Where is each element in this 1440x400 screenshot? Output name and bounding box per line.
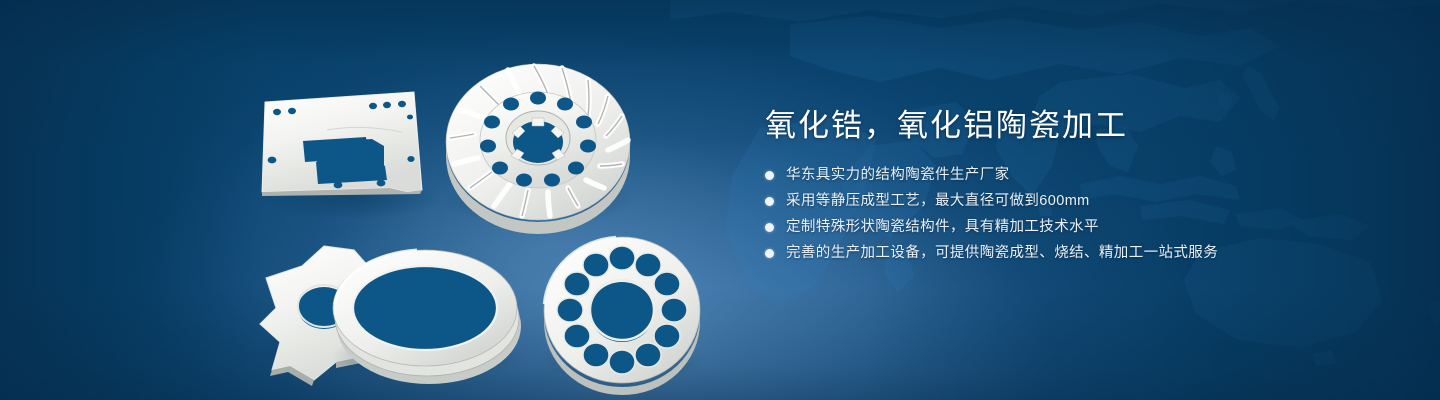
list-item-label: 定制特殊形状陶瓷结构件，具有精加工技术水平 [786,218,1099,237]
list-item-label: 华东具实力的结构陶瓷件生产厂家 [786,166,1010,185]
page-title: 氧化锆，氧化铝陶瓷加工 [765,104,1385,148]
banner-text-column: 氧化锆，氧化铝陶瓷加工 华东具实力的结构陶瓷件生产厂家 采用等静压成型工艺，最大… [765,104,1385,270]
ceramic-rings [331,250,523,384]
ceramic-plate [262,92,442,220]
list-item: 华东具实力的结构陶瓷件生产厂家 [765,166,1385,185]
product-image-group [232,40,714,390]
list-item: 采用等静压成型工艺，最大直径可做到600mm [765,192,1385,211]
hero-banner: 氧化锆，氧化铝陶瓷加工 华东具实力的结构陶瓷件生产厂家 采用等静压成型工艺，最大… [0,0,1440,400]
bullet-dot-icon [765,171,774,180]
feature-list: 华东具实力的结构陶瓷件生产厂家 采用等静压成型工艺，最大直径可做到600mm 定… [765,166,1385,263]
list-item-label: 完善的生产加工设备，可提供陶瓷成型、烧结、精加工一站式服务 [786,244,1218,263]
bullet-dot-icon [765,249,774,258]
bullet-dot-icon [765,197,774,206]
list-item: 定制特殊形状陶瓷结构件，具有精加工技术水平 [765,218,1385,237]
bullet-dot-icon [765,223,774,232]
ceramic-perforated-disc [542,237,702,395]
ceramic-impeller [442,64,634,234]
list-item: 完善的生产加工设备，可提供陶瓷成型、烧结、精加工一站式服务 [765,244,1385,263]
list-item-label: 采用等静压成型工艺，最大直径可做到600mm [786,192,1090,211]
